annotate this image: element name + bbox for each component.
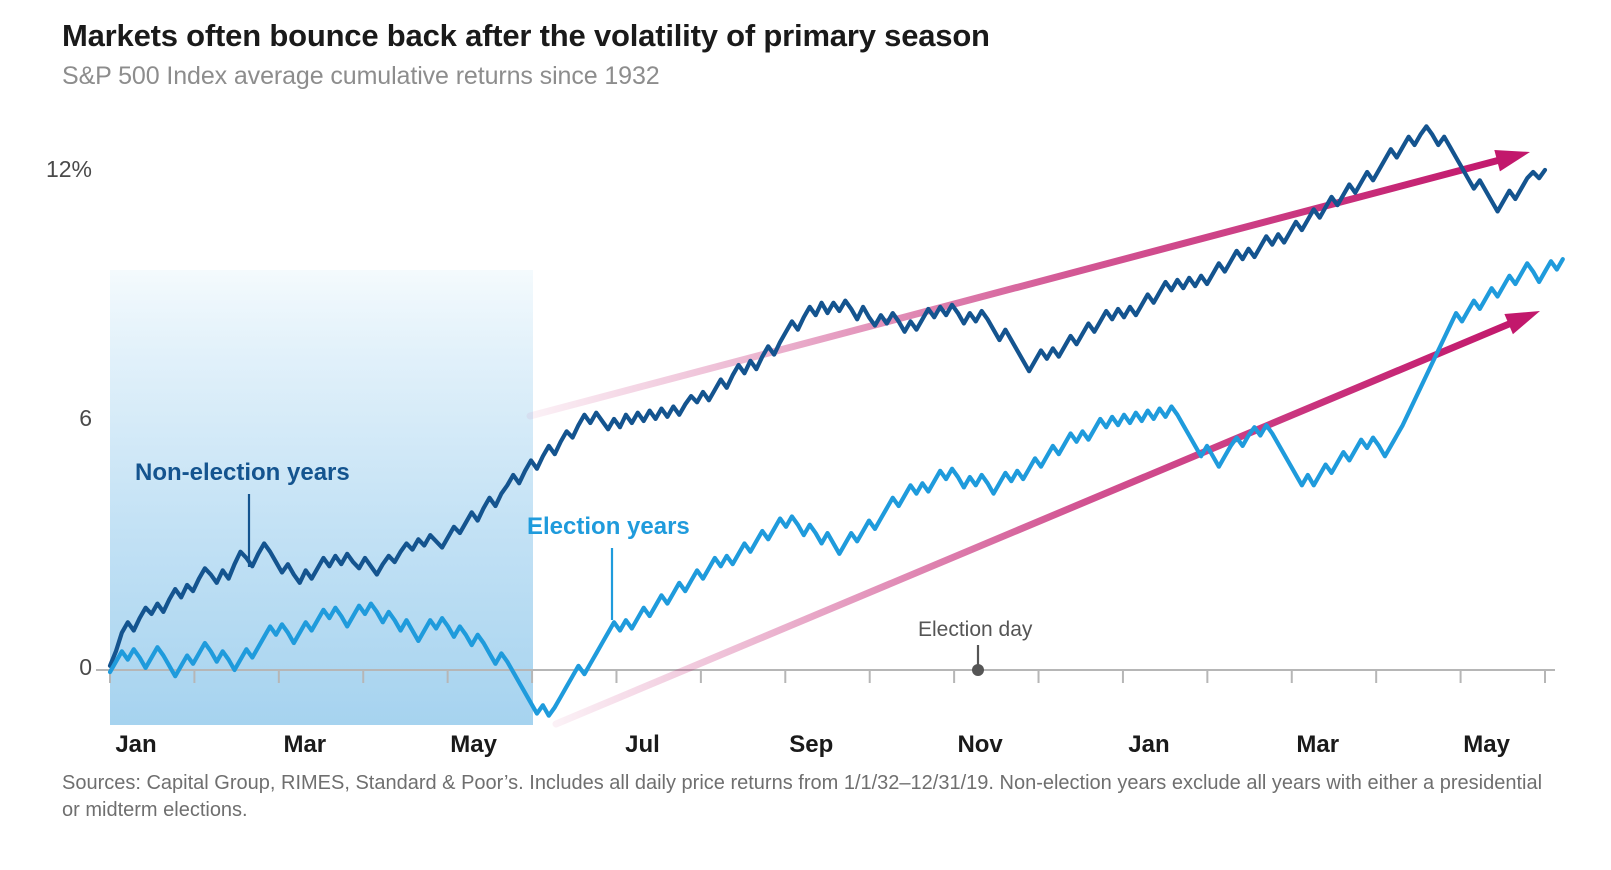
y-tick-label-12: 12% <box>22 156 92 183</box>
election-trend-arrow-head <box>1504 311 1540 334</box>
x-tick-label-3: Jul <box>597 731 687 759</box>
y-tick-label-6: 6 <box>22 405 92 432</box>
non-election-trend-arrow-shaft <box>530 159 1505 416</box>
chart-footnote: Sources: Capital Group, RIMES, Standard … <box>62 770 1562 824</box>
y-tick-label-0: 0 <box>22 654 92 681</box>
x-tick-label-6: Jan <box>1104 731 1194 759</box>
series-label-election-years: Election years <box>527 513 690 541</box>
x-tick-label-4: Sep <box>766 731 856 759</box>
trend-arrows <box>530 150 1540 724</box>
election-trend-arrow-shaft <box>556 321 1516 724</box>
non-election-trend-arrow-head <box>1494 150 1530 171</box>
x-tick-label-5: Nov <box>935 731 1025 759</box>
election-day-marker-dot <box>972 664 984 676</box>
primary-season-shading <box>110 270 533 725</box>
election-day-label: Election day <box>918 618 1032 642</box>
x-tick-label-0: Jan <box>91 731 181 759</box>
series-label-non-election-years: Non-election years <box>135 459 350 487</box>
chart-figure: Markets often bounce back after the vola… <box>0 0 1611 870</box>
x-tick-label-7: Mar <box>1273 731 1363 759</box>
x-tick-label-2: May <box>429 731 519 759</box>
x-tick-label-8: May <box>1442 731 1532 759</box>
x-tick-label-1: Mar <box>260 731 350 759</box>
